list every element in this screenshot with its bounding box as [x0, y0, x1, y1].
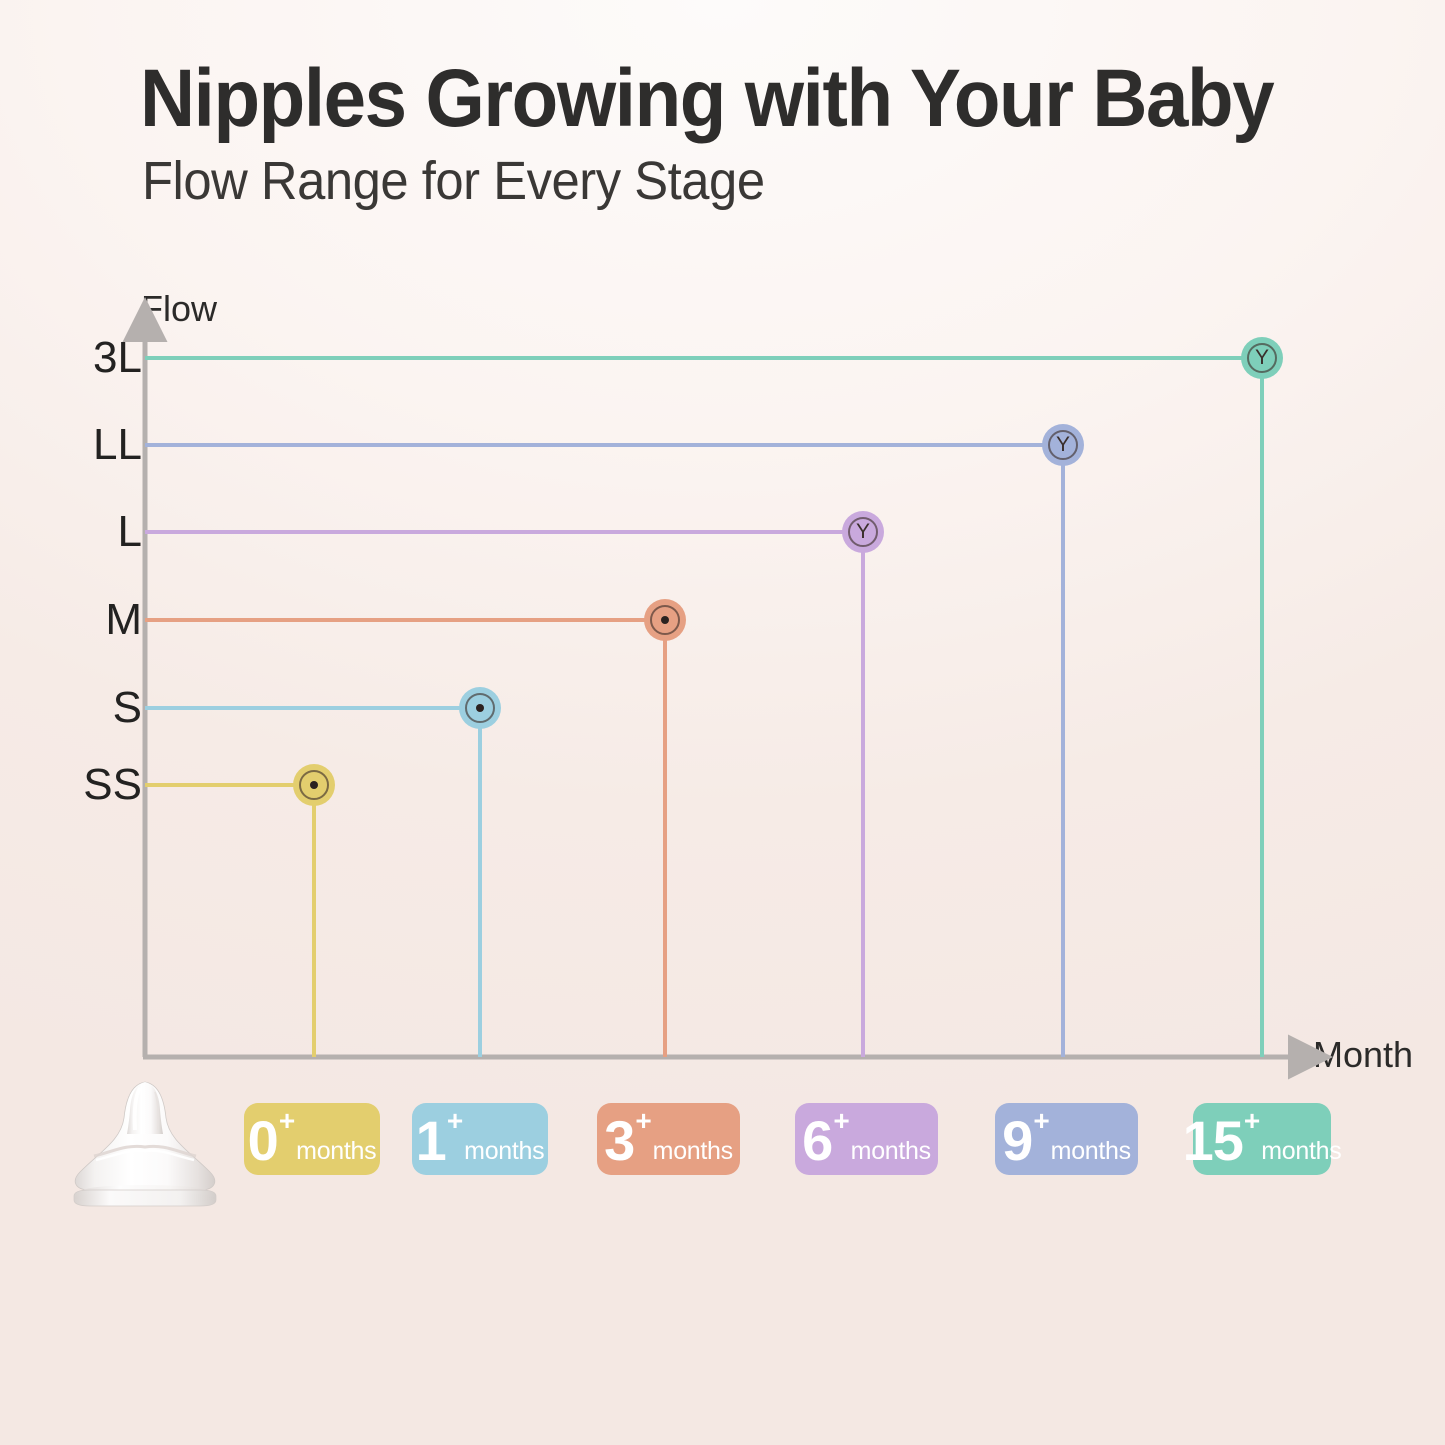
- legend-badge-plus: +: [1033, 1107, 1049, 1135]
- legend-badge-number: 9: [1002, 1114, 1032, 1167]
- step-line-l: [145, 532, 863, 1057]
- legend-badge-unit: months: [653, 1139, 733, 1164]
- legend-badge-plus: +: [1244, 1107, 1260, 1135]
- marker-hole-icon: [661, 616, 669, 624]
- legend-badge-15-months[interactable]: 15+months: [1193, 1103, 1331, 1175]
- legend-badge-plus: +: [447, 1107, 463, 1135]
- legend-badge-1-months[interactable]: 1+months: [412, 1103, 548, 1175]
- baby-bottle-nipple-photo: [60, 1068, 230, 1213]
- legend-badge-unit: months: [1051, 1139, 1131, 1164]
- legend-badge-unit: months: [464, 1139, 544, 1164]
- flow-marker-m[interactable]: [644, 599, 686, 641]
- marker-y-cut-icon: Y: [1255, 347, 1269, 368]
- legend-badge-plus: +: [279, 1107, 295, 1135]
- infographic-canvas: Nipples Growing with Your Baby Flow Rang…: [0, 0, 1445, 1445]
- legend-badge-unit: months: [851, 1139, 931, 1164]
- flow-marker-l[interactable]: Y: [842, 511, 884, 553]
- legend-badge-plus: +: [833, 1107, 849, 1135]
- marker-y-cut-icon: Y: [856, 521, 870, 542]
- marker-hole-icon: [476, 704, 484, 712]
- step-line-group: [145, 358, 1262, 1057]
- legend-badge-number: 15: [1183, 1114, 1243, 1167]
- legend-badge-unit: months: [296, 1139, 376, 1164]
- step-line-ss: [145, 785, 314, 1057]
- legend-badge-plus: +: [635, 1107, 651, 1135]
- legend-badge-3-months[interactable]: 3+months: [597, 1103, 740, 1175]
- step-line-ll: [145, 445, 1063, 1057]
- y-tick-label-s: S: [22, 686, 142, 730]
- marker-y-cut-icon: Y: [1056, 434, 1070, 455]
- legend-badge-unit: months: [1261, 1139, 1341, 1164]
- y-tick-label-ss: SS: [22, 763, 142, 807]
- flow-stage-chart: [0, 0, 1445, 1445]
- y-tick-label-3l: 3L: [22, 336, 142, 380]
- y-tick-label-ll: LL: [22, 423, 142, 467]
- legend-badge-6-months[interactable]: 6+months: [795, 1103, 938, 1175]
- legend-badge-number: 0: [248, 1114, 278, 1167]
- legend-badge-number: 1: [416, 1114, 446, 1167]
- legend-badge-number: 3: [604, 1114, 634, 1167]
- flow-marker-ss[interactable]: [293, 764, 335, 806]
- flow-marker-3l[interactable]: Y: [1241, 337, 1283, 379]
- y-tick-label-l: L: [22, 510, 142, 554]
- legend-badge-number: 6: [802, 1114, 832, 1167]
- flow-marker-s[interactable]: [459, 687, 501, 729]
- legend-badge-0-months[interactable]: 0+months: [244, 1103, 380, 1175]
- step-line-m: [145, 620, 665, 1057]
- y-tick-label-m: M: [22, 598, 142, 642]
- legend-badge-9-months[interactable]: 9+months: [995, 1103, 1138, 1175]
- marker-hole-icon: [310, 781, 318, 789]
- flow-marker-ll[interactable]: Y: [1042, 424, 1084, 466]
